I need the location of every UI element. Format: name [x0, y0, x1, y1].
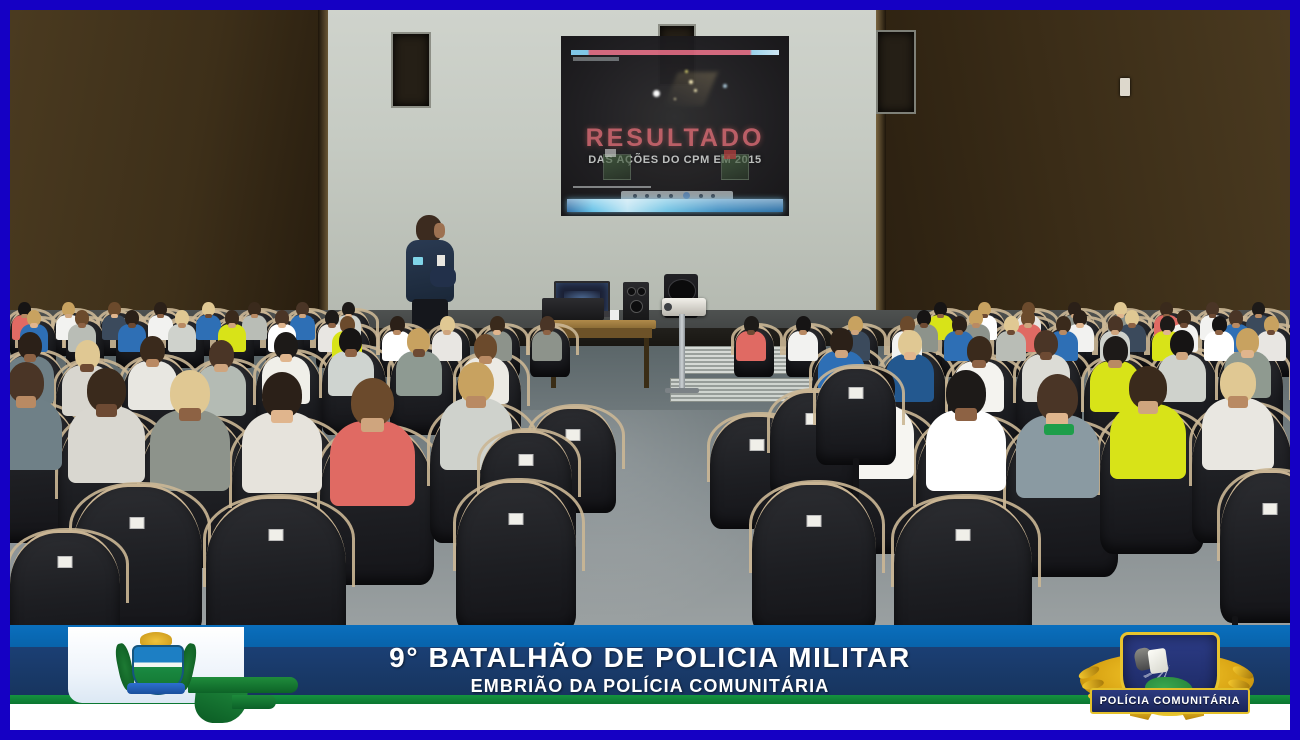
audience-neck: [972, 360, 985, 368]
audience-torso: [532, 331, 562, 361]
audience-member: [242, 372, 322, 493]
audience-neck: [96, 404, 116, 417]
audience-neck: [228, 323, 236, 328]
audience-neck: [361, 418, 384, 432]
audience-neck: [146, 359, 159, 367]
audience-torso: [150, 410, 230, 490]
audience-neck: [128, 323, 136, 328]
badge-name-plate: POLÍCIA COMUNITÁRIA: [1090, 688, 1250, 714]
audience-neck: [251, 314, 258, 318]
seat-label: [750, 439, 765, 451]
audience-neck: [799, 330, 807, 335]
audience-member: [10, 362, 62, 470]
audience-neck: [205, 314, 212, 318]
seat-label: [956, 529, 971, 541]
audience-neck: [1007, 330, 1015, 335]
seat-label: [519, 454, 534, 466]
audience-neck: [443, 330, 451, 335]
audience-neck: [835, 350, 847, 358]
audience-torso: [736, 331, 766, 361]
audience-member: [736, 316, 766, 361]
audience-neck: [466, 396, 485, 408]
audience-neck: [157, 314, 164, 318]
audience-neck: [904, 352, 917, 360]
auditorium-chair: [10, 530, 120, 625]
auditorium-chair: [456, 480, 576, 625]
organization-banner: 9° BATALHÃO DE POLICIA MILITAR EMBRIÃO D…: [10, 625, 1290, 730]
audience-neck: [178, 323, 186, 328]
audience-torso: [330, 421, 415, 506]
audience-neck: [1215, 330, 1223, 335]
lanyard: [1044, 424, 1074, 435]
audience-torso: [10, 398, 62, 470]
audience-torso: [68, 406, 145, 483]
audience-member: [532, 316, 562, 361]
community-police-badge-icon: POLÍCIA COMUNITÁRIA: [1072, 626, 1262, 726]
audience-neck: [271, 410, 292, 423]
audience-neck: [345, 349, 357, 357]
badge-label: POLÍCIA COMUNITÁRIA: [1100, 695, 1241, 707]
auditorium-chair: [1220, 470, 1290, 620]
auditorium-chair: [752, 482, 876, 625]
auditorium-chair: [894, 496, 1032, 625]
audience-torso: [242, 412, 322, 492]
coat-of-arms-ribbon: [127, 683, 185, 694]
audience-neck: [955, 408, 976, 421]
audience-torso: [1202, 398, 1274, 470]
scroll-icon: [1147, 648, 1168, 674]
auditorium-photo: RESULTADO DAS AÇÕES DO CPM EM 2015: [10, 10, 1290, 625]
audience-neck: [278, 323, 286, 328]
audience-torso: [926, 410, 1006, 490]
audience-neck: [1111, 330, 1119, 335]
seat-label: [269, 529, 284, 541]
seat-label: [509, 513, 524, 525]
seat-label: [58, 556, 73, 568]
audience-neck: [1241, 350, 1253, 358]
state-coat-of-arms-icon: [106, 631, 206, 699]
auditorium-chair: [816, 366, 896, 462]
audience-member: [1202, 362, 1274, 470]
photo-frame: RESULTADO DAS AÇÕES DO CPM EM 2015: [0, 0, 1300, 740]
audience-neck: [1040, 352, 1053, 360]
audience-member: [788, 316, 818, 361]
audience-neck: [16, 396, 35, 408]
audience-member: [330, 378, 415, 506]
audience-member: [68, 368, 145, 483]
audience-member: [1110, 366, 1186, 479]
audience-neck: [299, 314, 306, 318]
audience-neck: [413, 349, 425, 357]
audience-neck: [280, 354, 293, 362]
audience-torso: [1110, 404, 1186, 480]
audience-neck: [1228, 396, 1247, 408]
seat-label: [849, 387, 864, 399]
chair-leg: [1232, 616, 1238, 625]
audience-member: [926, 370, 1006, 491]
seat-label: [1263, 503, 1278, 515]
seat-label: [130, 517, 145, 529]
audience-neck: [78, 323, 86, 328]
audience-member: [150, 370, 230, 491]
audience-neck: [111, 314, 118, 318]
audience-neck: [747, 330, 755, 335]
audience-neck: [955, 330, 963, 335]
audience-neck: [543, 330, 551, 335]
audience-neck: [30, 323, 38, 328]
auditorium-chair: [206, 496, 346, 625]
audience-neck: [1176, 352, 1189, 360]
audience-neck: [1138, 401, 1158, 414]
seat-label: [807, 515, 822, 527]
audience-neck: [937, 314, 944, 318]
audience-neck: [179, 408, 200, 421]
audience-torso: [788, 331, 818, 361]
audience-member: [1016, 374, 1099, 498]
